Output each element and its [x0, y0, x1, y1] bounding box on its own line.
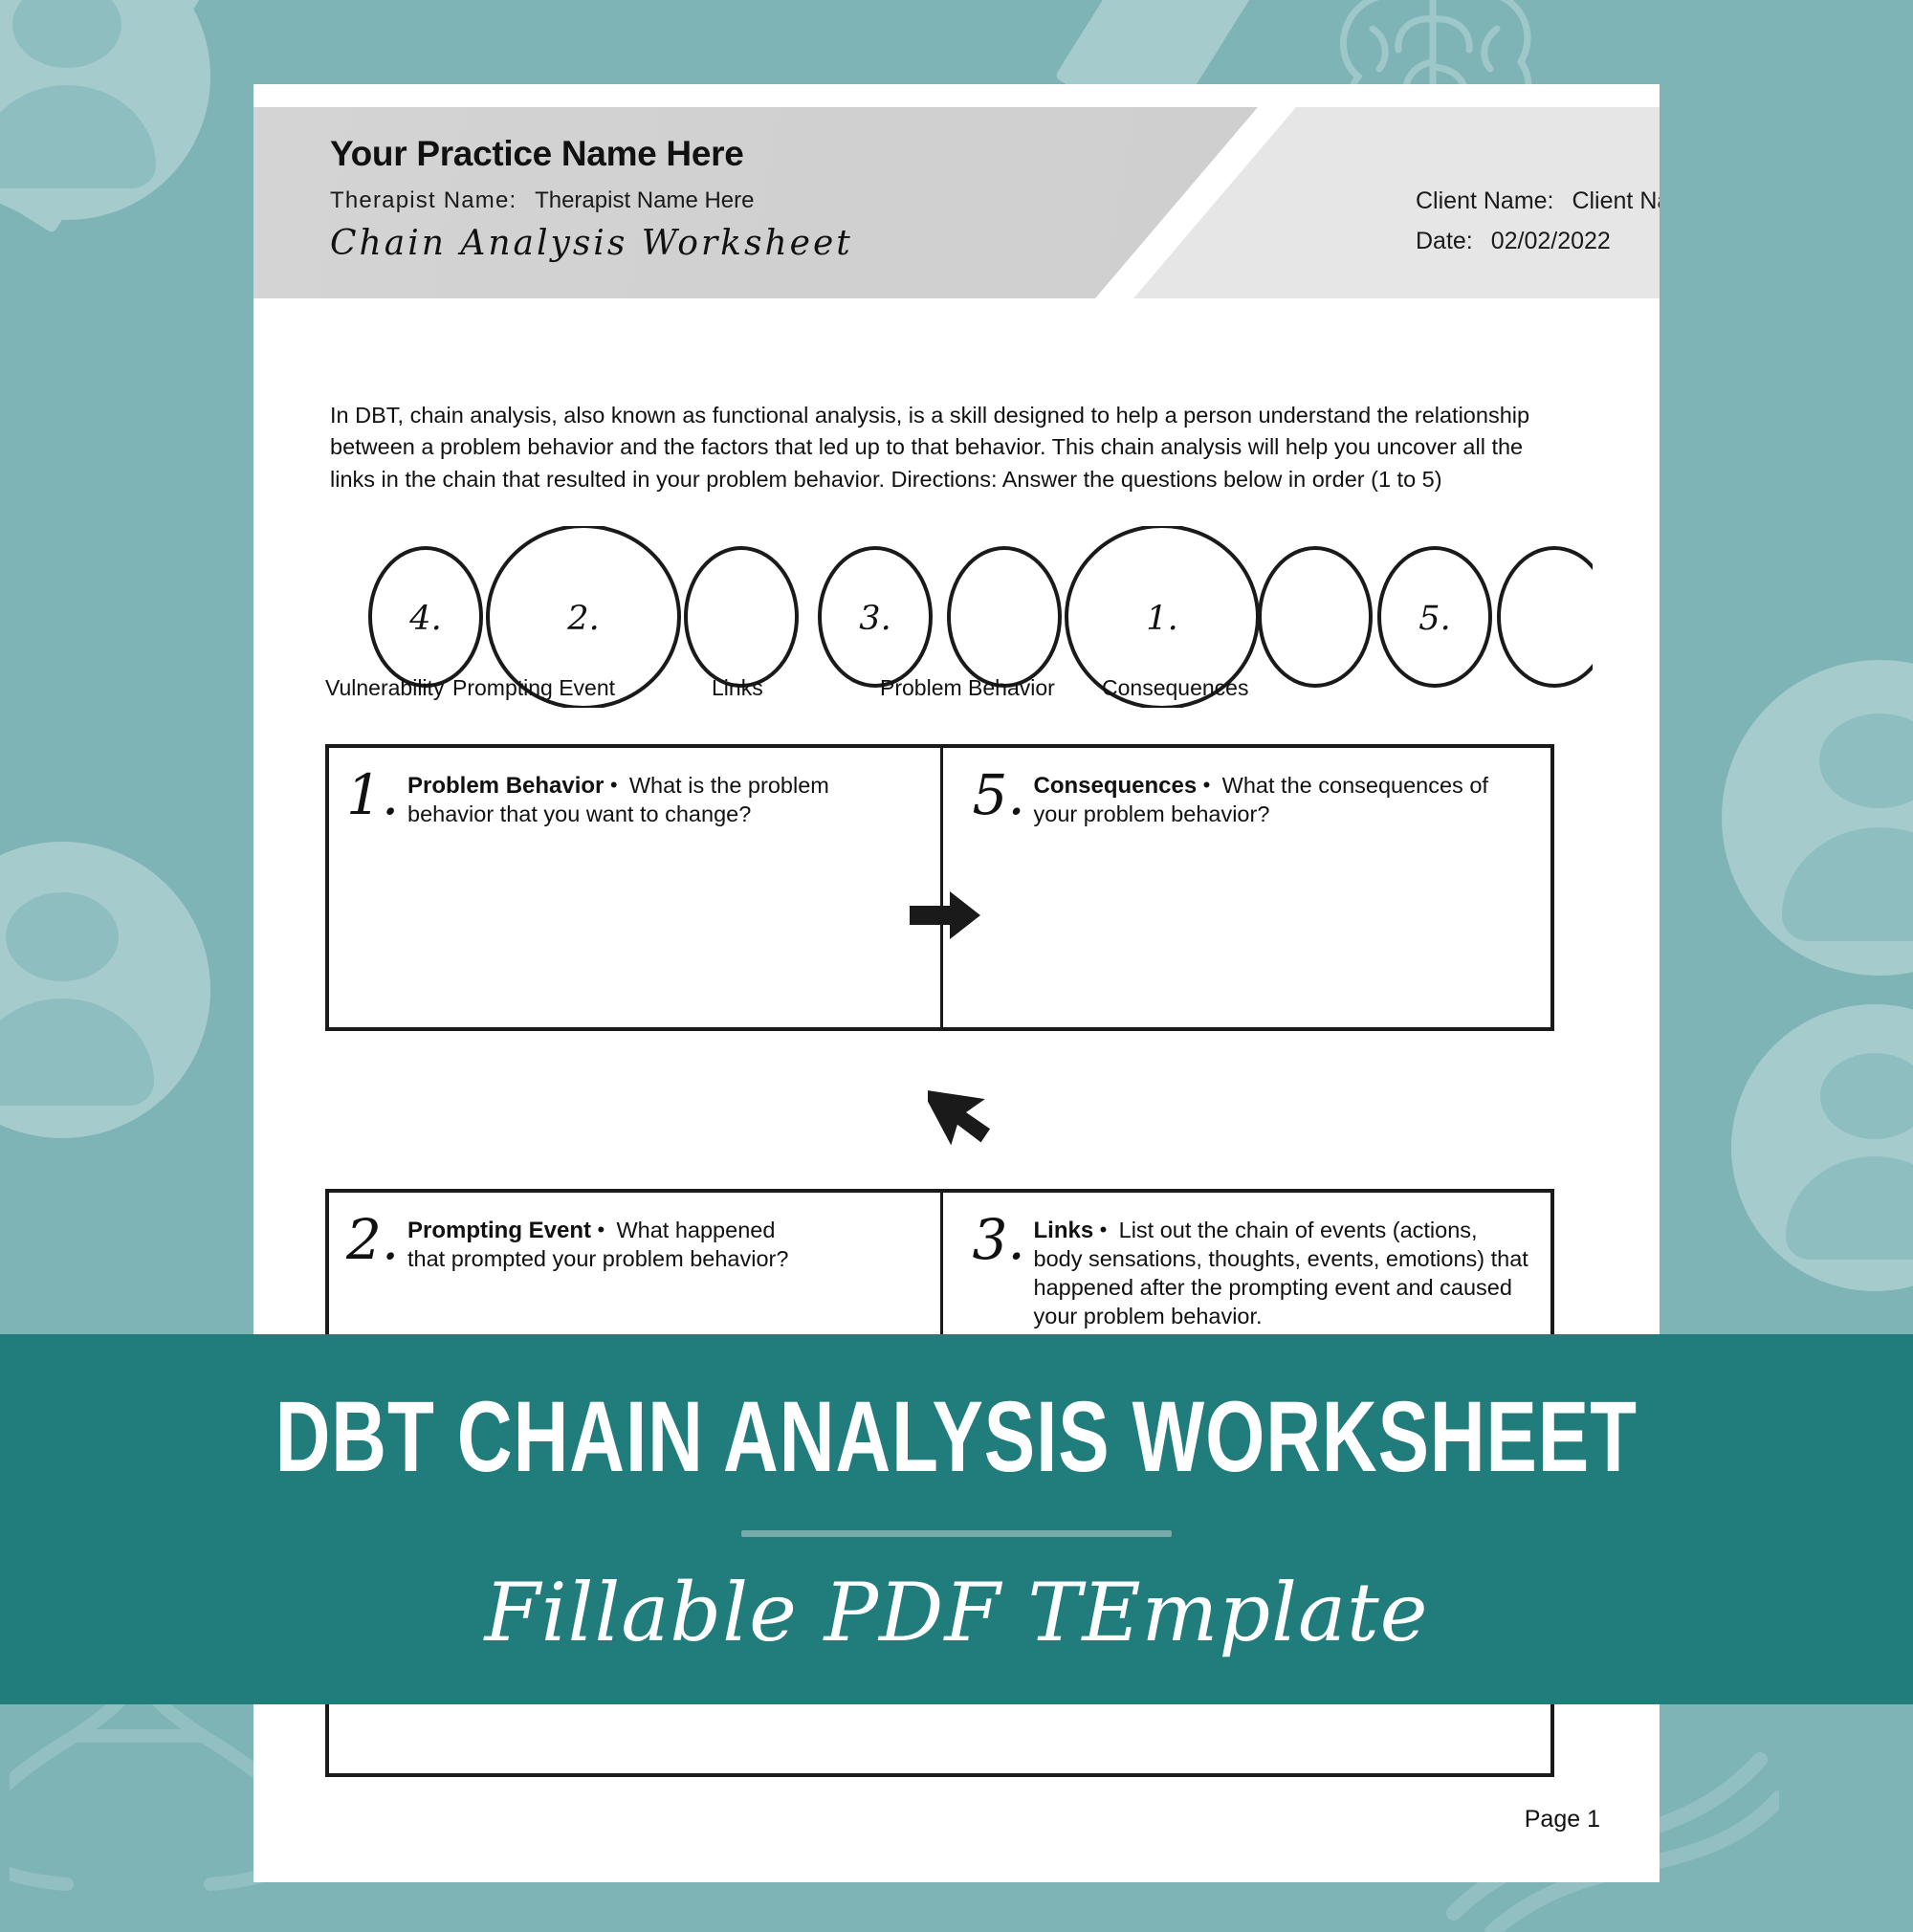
chain-ellipse-gap-1	[686, 548, 797, 686]
question-cell-consequences[interactable]: 5. Consequences What the consequences of…	[940, 748, 1551, 1027]
therapist-name-label: Therapist Name:	[330, 187, 517, 213]
person-avatar-icon	[0, 842, 210, 1138]
chain-ellipse-gap-4	[1499, 548, 1593, 686]
practice-name: Your Practice Name Here	[330, 134, 744, 174]
question-cell-problem-behavior[interactable]: 1. Problem Behavior What is the problem …	[329, 748, 940, 1027]
question-section-top: 1. Problem Behavior What is the problem …	[325, 744, 1554, 1031]
chain-label-links: Links	[712, 675, 763, 701]
person-avatar-icon	[1731, 1004, 1913, 1291]
promo-divider	[741, 1530, 1172, 1537]
question-title: Problem Behavior	[407, 773, 604, 799]
chain-label-problem-behavior: Problem Behavior	[880, 675, 1055, 701]
chain-labels: Vulnerability Prompting Event Links Prob…	[320, 675, 1602, 708]
worksheet-title: Chain Analysis Worksheet	[330, 224, 853, 263]
therapist-name-value[interactable]: Therapist Name Here	[535, 187, 754, 213]
question-title: Prompting Event	[407, 1218, 591, 1243]
question-number: 1.	[346, 769, 407, 819]
date-value[interactable]: 02/02/2022	[1491, 228, 1611, 254]
question-number: 5.	[973, 769, 1034, 819]
chain-label-consequences: Consequences	[1102, 675, 1248, 701]
chain-ellipse-gap-2	[949, 548, 1060, 686]
intro-paragraph: In DBT, chain analysis, also known as fu…	[330, 400, 1573, 495]
chain-label-vulnerability: Vulnerability	[325, 675, 444, 701]
question-title: Links	[1034, 1218, 1094, 1243]
question-number: 2.	[346, 1214, 407, 1263]
promo-banner: DBT Chain Analysis Worksheet Fillable PD…	[0, 1334, 1913, 1704]
question-prompt: List out the chain of events (actions, b…	[1034, 1218, 1528, 1328]
chain-number-3: 3.	[859, 600, 891, 638]
person-avatar-icon	[1722, 660, 1913, 976]
flow-arrow-right-icon	[908, 889, 982, 941]
page-number: Page 1	[1525, 1806, 1600, 1833]
chain-label-prompting-event: Prompting Event	[452, 675, 615, 701]
chain-number-4: 4.	[408, 600, 441, 638]
chain-number-2: 2.	[566, 600, 599, 638]
chain-ellipse-gap-3	[1260, 548, 1371, 686]
cursor-arrow-icon	[928, 1069, 995, 1151]
question-number: 3.	[973, 1214, 1034, 1263]
document-header: Your Practice Name Here Therapist Name: …	[253, 107, 1660, 298]
chain-number-5: 5.	[1418, 600, 1450, 638]
promo-title: DBT Chain Analysis Worksheet	[275, 1380, 1638, 1496]
question-title: Consequences	[1034, 773, 1198, 799]
client-name-field: Client Name: Client Name Here	[1416, 187, 1660, 215]
promo-subtitle: Fillable PDF TEmplate	[484, 1566, 1428, 1659]
client-name-label: Client Name:	[1416, 187, 1554, 214]
person-avatar-icon	[0, 0, 210, 220]
therapist-name-field: Therapist Name: Therapist Name Here	[330, 187, 755, 214]
chain-number-1: 1.	[1146, 600, 1177, 638]
client-name-value[interactable]: Client Name Here	[1572, 187, 1660, 214]
date-label: Date:	[1416, 228, 1473, 254]
date-field: Date: 02/02/2022	[1416, 228, 1611, 255]
